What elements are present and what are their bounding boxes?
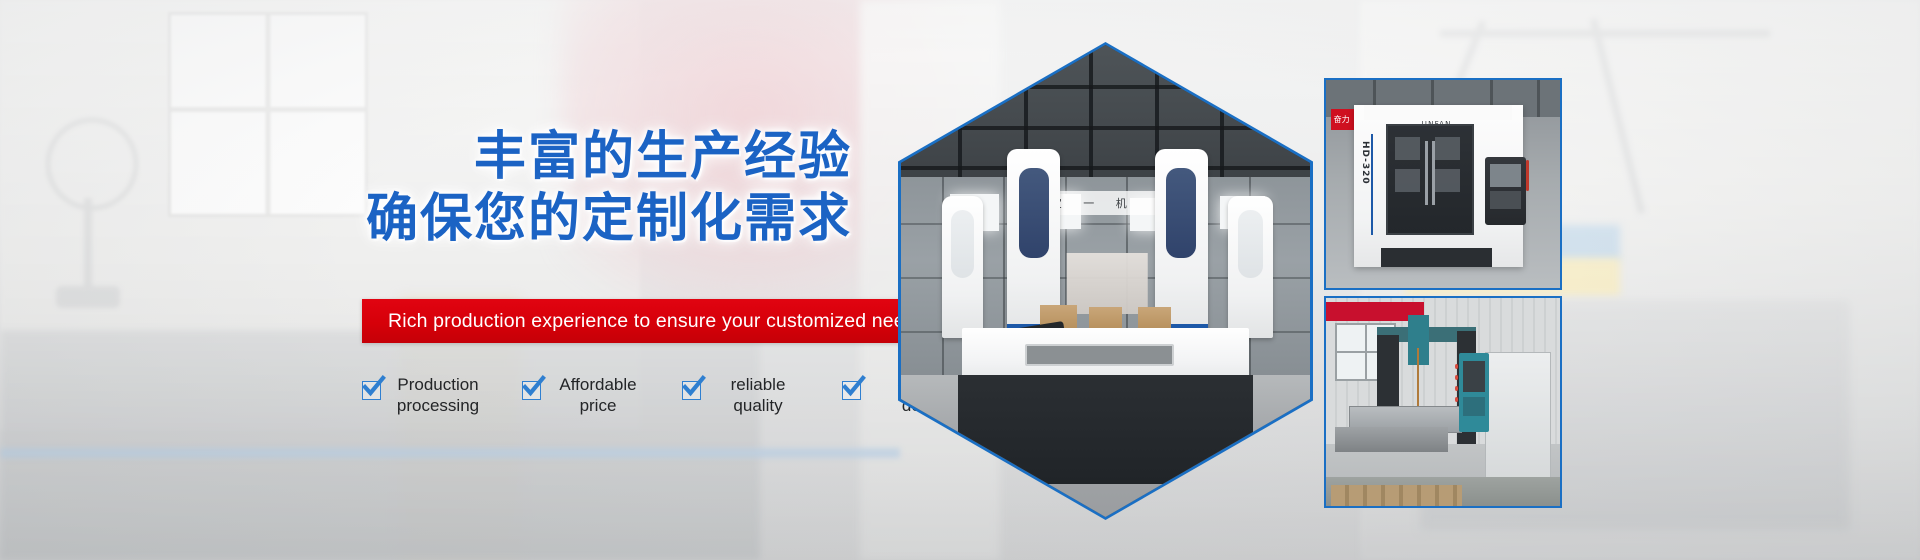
edm-control-panel — [1459, 353, 1488, 432]
headline-line-2: 确保您的定制化需求 — [0, 190, 852, 248]
checkbox-checked-icon — [842, 381, 861, 400]
thumbnail-machining-center[interactable]: 奋力 JINFAN HD-320 — [1324, 78, 1562, 290]
carton-box — [1089, 307, 1122, 328]
feature-list: Production processing Affordable price r… — [362, 374, 966, 417]
hexagon-photo[interactable]: 定 一 机 — [898, 42, 1313, 520]
subtitle-text: Rich production experience to ensure you… — [362, 310, 926, 333]
machine-model-label: HD-320 — [1360, 141, 1370, 185]
thumbnail-edm-machine[interactable] — [1324, 296, 1562, 508]
wrapped-pallet — [1066, 253, 1148, 314]
hexagon-photo-content: 定 一 机 — [901, 45, 1310, 517]
carton-box — [1138, 307, 1171, 328]
machine-column-left — [942, 196, 983, 338]
feature-label: Affordable price — [550, 374, 646, 417]
machine-column-right — [1228, 196, 1273, 338]
feature-item-production-processing[interactable]: Production processing — [362, 374, 486, 417]
machine-control-panel — [1485, 157, 1525, 225]
checkbox-checked-icon — [522, 381, 541, 400]
machining-center-body: JINFAN HD-320 — [1354, 105, 1522, 267]
headline-line-1: 丰富的生产经验 — [0, 128, 852, 186]
page-title: 丰富的生产经验 确保您的定制化需求 — [0, 128, 852, 248]
feature-item-affordable-price[interactable]: Affordable price — [522, 374, 646, 417]
hero-banner: 丰富的生产经验 确保您的定制化需求 Rich production experi… — [0, 0, 1920, 560]
thumb-top-banner-text: 奋力 — [1331, 115, 1350, 124]
feature-item-reliable-quality[interactable]: reliable quality — [682, 374, 806, 417]
copy-block: 丰富的生产经验 确保您的定制化需求 Rich production experi… — [0, 0, 920, 560]
edm-cabinet — [1485, 352, 1551, 481]
feature-label: Production processing — [390, 374, 486, 417]
subtitle-bar: Rich production experience to ensure you… — [362, 299, 900, 343]
checkbox-checked-icon — [682, 381, 701, 400]
machine-doors — [1386, 124, 1474, 234]
checkbox-checked-icon — [362, 381, 381, 400]
machine-base — [958, 375, 1252, 484]
edm-machine-bed — [1335, 427, 1447, 452]
wood-pallet — [1331, 485, 1462, 506]
feature-label: reliable quality — [710, 374, 806, 417]
